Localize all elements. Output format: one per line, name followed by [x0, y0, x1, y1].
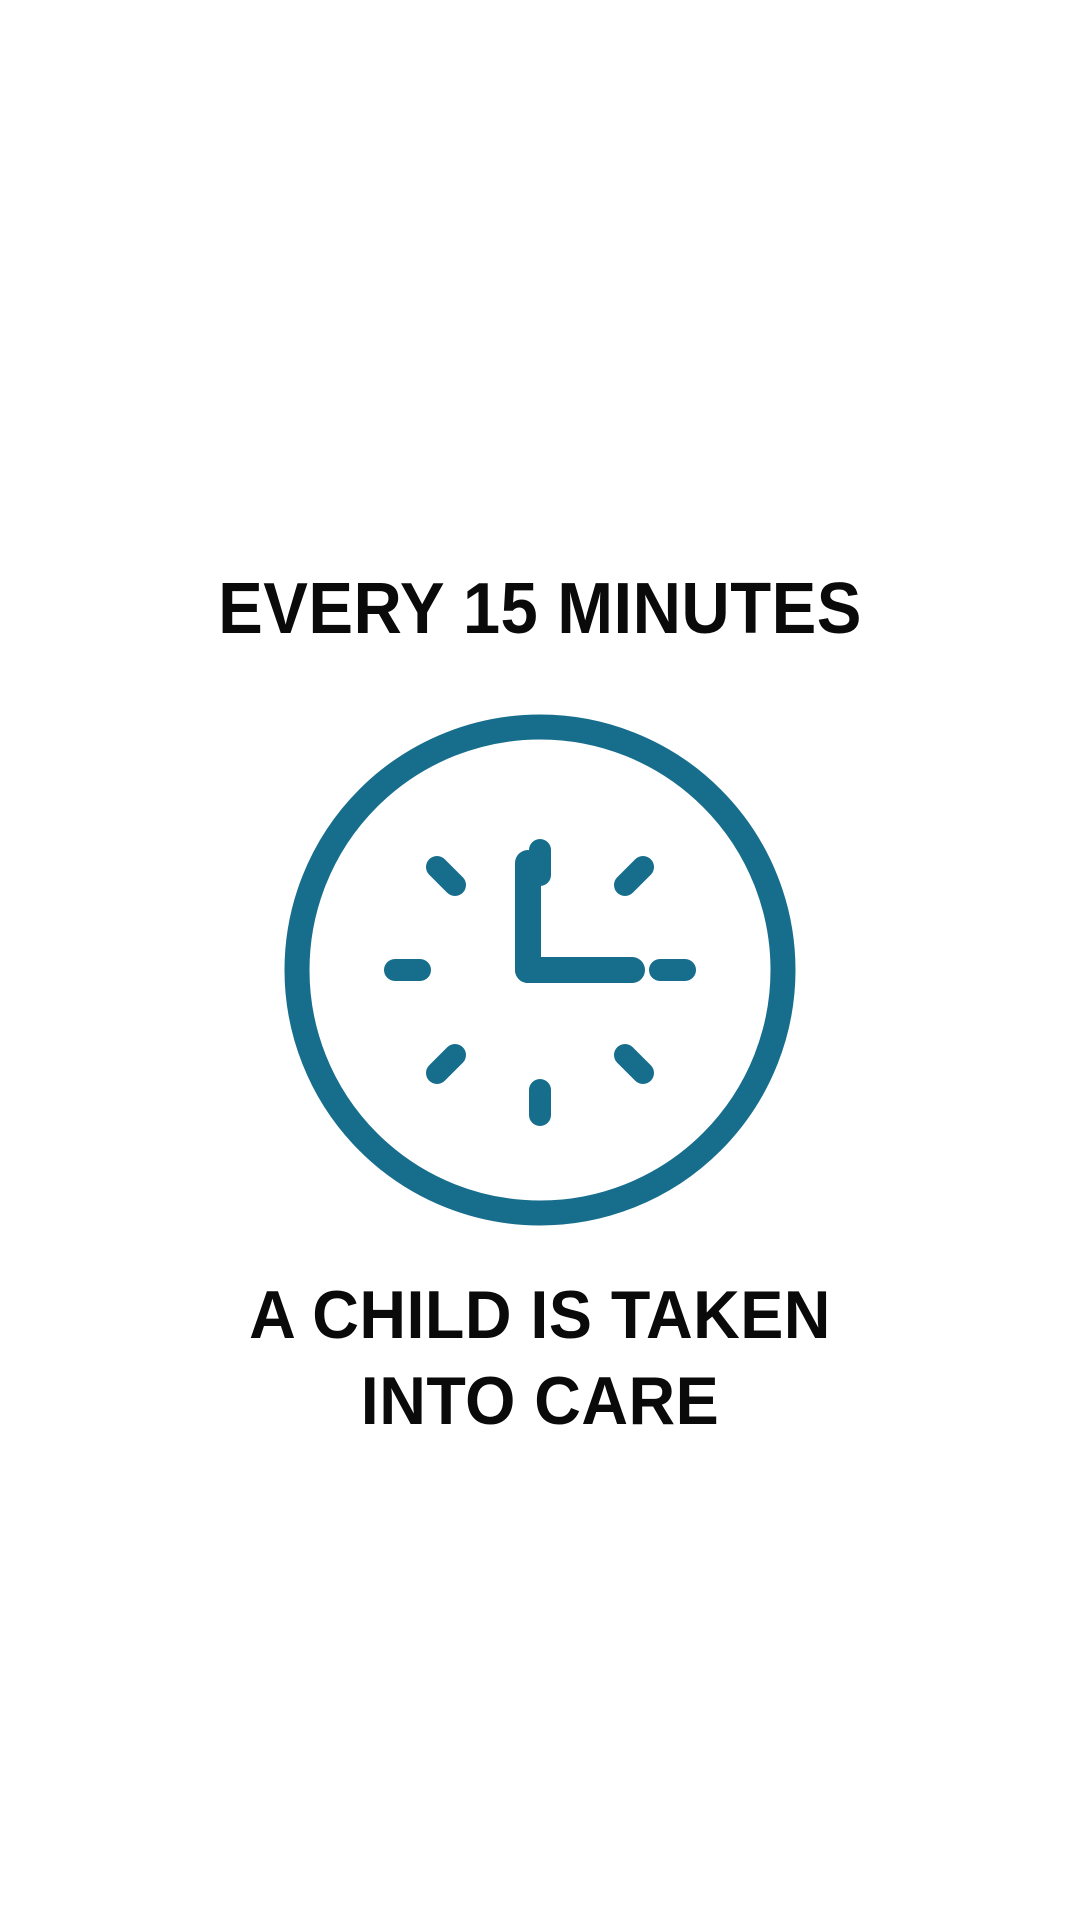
clock-tick-430: [625, 1055, 643, 1073]
infographic-poster: EVERY 15 MINUTES: [0, 0, 1080, 1920]
clock-tick-130: [625, 867, 643, 885]
clock-icon-container: [0, 700, 1080, 1240]
caption-line-2: INTO CARE: [27, 1358, 1053, 1444]
clock-tick-1030: [437, 867, 455, 885]
clock-icon: [270, 700, 810, 1240]
headline-block: EVERY 15 MINUTES: [0, 570, 1080, 648]
caption-block: A CHILD IS TAKEN INTO CARE: [0, 1272, 1080, 1444]
page-title: EVERY 15 MINUTES: [38, 570, 1042, 648]
clock-tick-730: [437, 1055, 455, 1073]
caption-line-1: A CHILD IS TAKEN: [27, 1272, 1053, 1358]
